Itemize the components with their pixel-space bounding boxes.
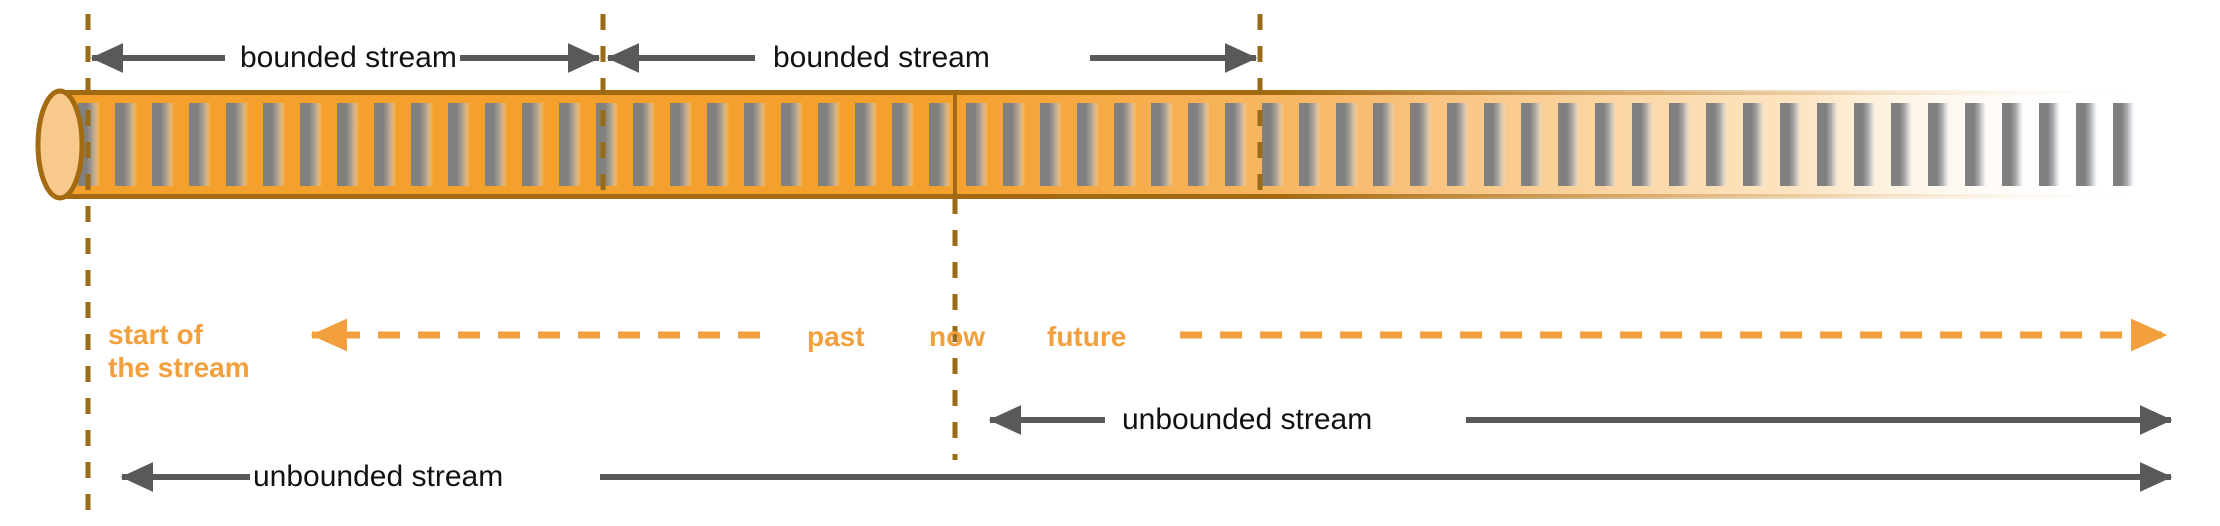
- stream-record: [1336, 103, 1358, 186]
- stream-record: [1595, 103, 1617, 186]
- now-label: now: [929, 320, 985, 353]
- stream-record: [1558, 103, 1580, 186]
- stream-record: [1262, 103, 1284, 186]
- stream-record: [522, 103, 544, 186]
- stream-record: [300, 103, 322, 186]
- stream-record: [670, 103, 692, 186]
- stream-record: [152, 103, 174, 186]
- stream-record: [1373, 103, 1395, 186]
- stream-bottom-edge: [60, 194, 2160, 199]
- stream-record: [744, 103, 766, 186]
- stream-record: [855, 103, 877, 186]
- stream-record: [1891, 103, 1913, 186]
- stream-record: [1965, 103, 1987, 186]
- unbounded-stream-label-2: unbounded stream: [253, 462, 503, 492]
- stream-record: [1151, 103, 1173, 186]
- stream-start-cap: [38, 91, 82, 198]
- diagram-canvas: [0, 0, 2220, 526]
- stream-record: [2039, 103, 2061, 186]
- stream-record: [1410, 103, 1432, 186]
- stream-record: [115, 103, 137, 186]
- future-label: future: [1047, 320, 1126, 353]
- stream-record: [226, 103, 248, 186]
- stream-record: [1003, 103, 1025, 186]
- start-of-stream-label-line1: start of: [108, 318, 250, 351]
- stream-record: [485, 103, 507, 186]
- stream-record: [1484, 103, 1506, 186]
- stream-record: [1669, 103, 1691, 186]
- stream-record: [1188, 103, 1210, 186]
- stream-record: [818, 103, 840, 186]
- stream-record: [559, 103, 581, 186]
- start-of-stream-label-line2: the stream: [108, 351, 250, 384]
- stream-record: [781, 103, 803, 186]
- stream-record: [1817, 103, 1839, 186]
- stream-record: [707, 103, 729, 186]
- stream-diagram: bounded stream bounded stream start of t…: [0, 0, 2220, 526]
- stream-record: [1521, 103, 1543, 186]
- start-of-stream-label: start of the stream: [108, 318, 250, 384]
- stream-record: [189, 103, 211, 186]
- guide-lines: [88, 14, 1260, 518]
- stream-record: [1299, 103, 1321, 186]
- stream-record: [1447, 103, 1469, 186]
- stream-record: [929, 103, 951, 186]
- stream-record: [1114, 103, 1136, 186]
- stream-record: [1854, 103, 1876, 186]
- stream-record: [2002, 103, 2024, 186]
- stream-record: [966, 103, 988, 186]
- stream-record: [1743, 103, 1765, 186]
- stream-record: [892, 103, 914, 186]
- stream-now-boundary: [953, 92, 957, 197]
- stream-record: [411, 103, 433, 186]
- stream-record: [263, 103, 285, 186]
- stream-record: [1077, 103, 1099, 186]
- stream-record: [2113, 103, 2135, 186]
- stream-record: [1632, 103, 1654, 186]
- past-label: past: [807, 320, 865, 353]
- stream-record: [1928, 103, 1950, 186]
- bounded-stream-label-2: bounded stream: [773, 43, 990, 73]
- stream-record: [1780, 103, 1802, 186]
- bounded-stream-label-1: bounded stream: [240, 43, 457, 73]
- stream-record: [1706, 103, 1728, 186]
- stream-record: [1040, 103, 1062, 186]
- stream-record: [448, 103, 470, 186]
- stream-cylinder: [38, 90, 2160, 199]
- stream-top-edge: [60, 90, 2160, 95]
- stream-record: [337, 103, 359, 186]
- stream-record: [2076, 103, 2098, 186]
- stream-record: [1225, 103, 1247, 186]
- stream-record: [633, 103, 655, 186]
- unbounded-stream-label-1: unbounded stream: [1122, 405, 1372, 435]
- stream-record: [374, 103, 396, 186]
- stream-record: [596, 103, 618, 186]
